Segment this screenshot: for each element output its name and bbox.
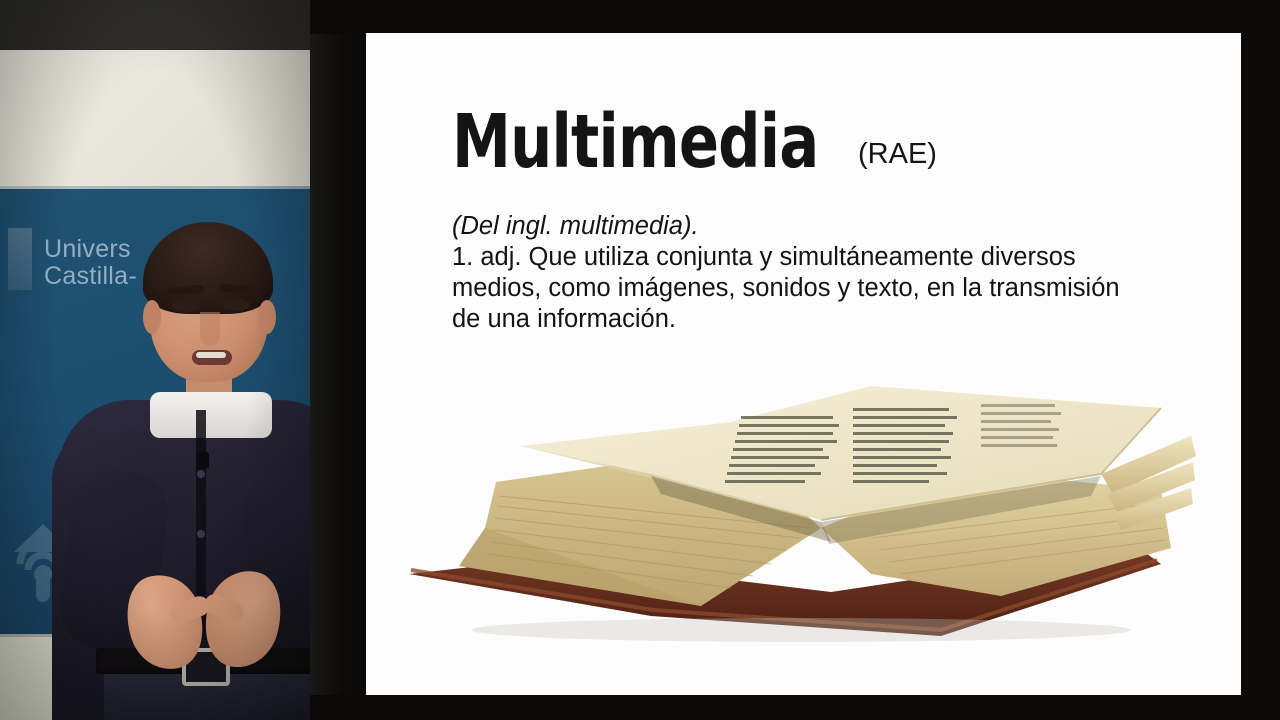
- uclm-text-line1: Univers: [44, 236, 137, 263]
- letterbox-right: [1241, 0, 1280, 720]
- definition-line-3: de una información.: [452, 304, 1182, 335]
- definition-etymology: (Del ingl. multimedia).: [452, 211, 1182, 242]
- letterbox-gap: [308, 0, 368, 720]
- presenter-video-panel: Univers Castilla-: [0, 0, 310, 720]
- letterbox-bottom: [308, 695, 1241, 720]
- studio-wall-upper: [0, 0, 310, 50]
- slide-definition: (Del ingl. multimedia). 1. adj. Que util…: [452, 211, 1182, 335]
- studio-wall-light: [0, 50, 310, 189]
- presenter-nose: [200, 312, 220, 346]
- presentation-slide: Multimedia (RAE) (Del ingl. multimedia).…: [366, 33, 1241, 695]
- slide-heading: Multimedia (RAE): [452, 105, 937, 179]
- uclm-text-line2: Castilla-: [44, 263, 137, 290]
- presenter-ear-right: [258, 300, 276, 334]
- definition-line-1: 1. adj. Que utiliza conjunta y simultáne…: [452, 242, 1182, 273]
- presenter-shirt-button-1: [197, 470, 205, 478]
- uclm-backdrop-text: Univers Castilla-: [44, 236, 137, 290]
- presenter-ear-left: [143, 300, 161, 334]
- presenter-shirt-button-2: [197, 530, 205, 538]
- presenter-eye-right: [222, 299, 250, 311]
- presenter-collar: [150, 392, 272, 438]
- open-book-image: [401, 378, 1196, 643]
- uclm-logo-bar: [8, 228, 32, 290]
- video-player-frame: Univers Castilla-: [0, 0, 1280, 720]
- letterbox-top: [308, 0, 1280, 34]
- page-title: Multimedia: [452, 105, 818, 179]
- presenter-teeth: [196, 352, 226, 358]
- lapel-microphone-icon: [196, 452, 209, 469]
- presenter-eye-left: [172, 300, 200, 312]
- definition-line-2: medios, como imágenes, sonidos y texto, …: [452, 273, 1182, 304]
- slide-source-label: (RAE): [858, 138, 937, 171]
